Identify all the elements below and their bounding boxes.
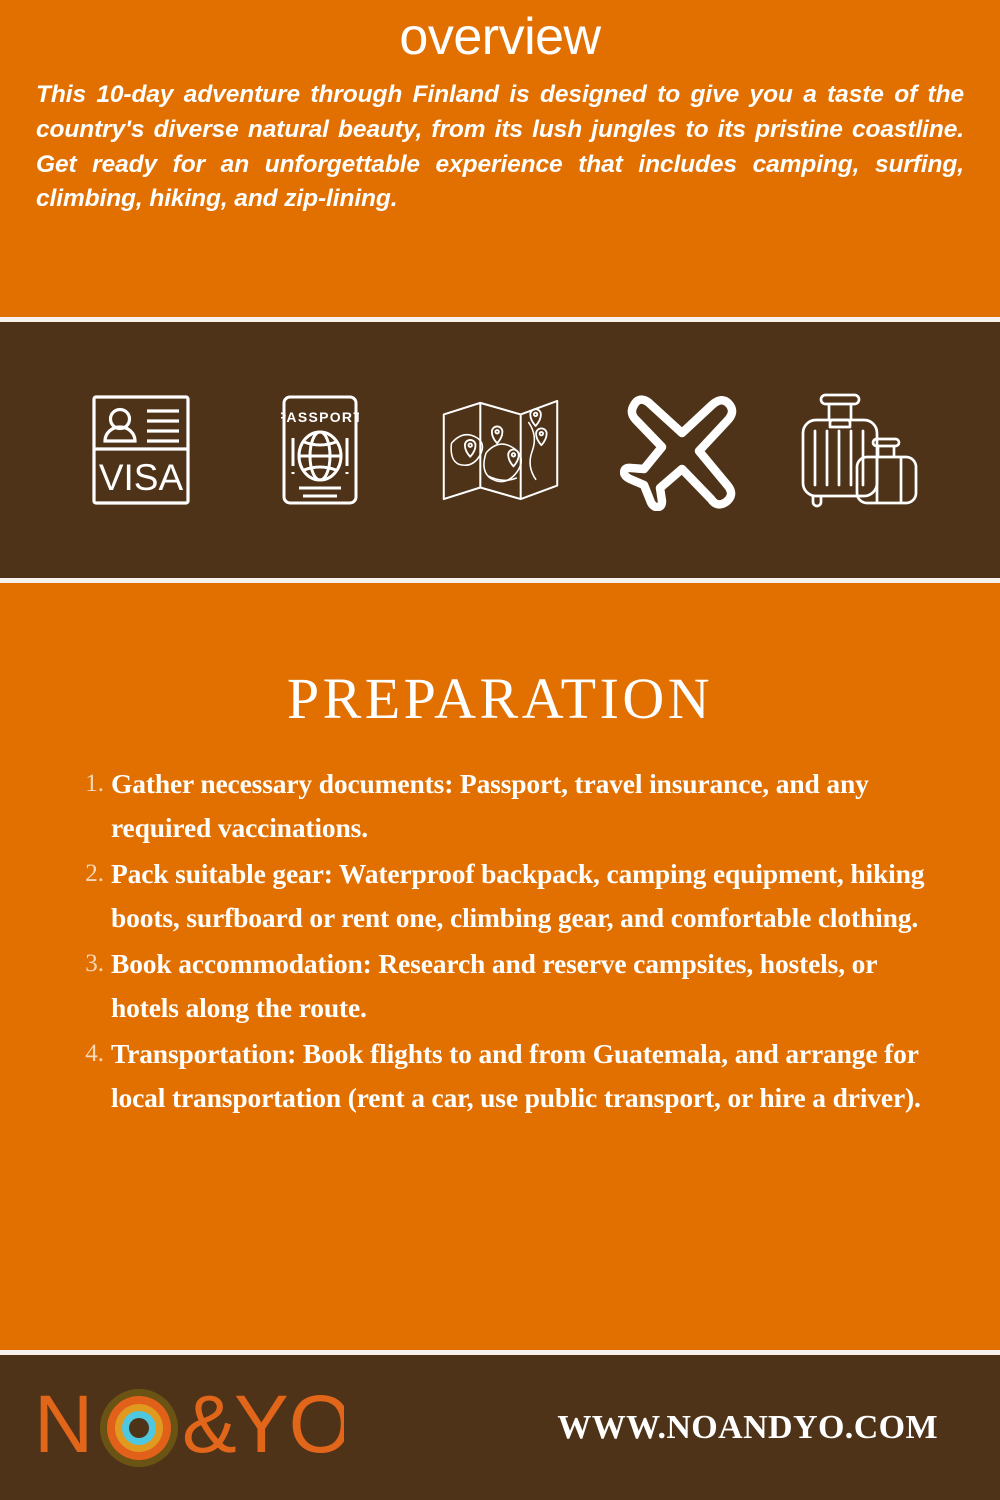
list-item-text: Transportation: Book flights to and from… bbox=[111, 1032, 940, 1120]
visa-label: VISA bbox=[98, 457, 183, 498]
logo-letter-n: N bbox=[34, 1386, 93, 1470]
overview-section: overview This 10-day adventure through F… bbox=[0, 0, 1000, 317]
footer-website-url[interactable]: WWW.NOANDYO.COM bbox=[557, 1409, 960, 1447]
list-item-text: Pack suitable gear: Waterproof backpack,… bbox=[111, 852, 940, 940]
page-footer: N & YO WWW.NOANDYO.COM bbox=[0, 1355, 1000, 1500]
list-item: 3. Book accommodation: Research and rese… bbox=[68, 942, 940, 1030]
preparation-list: 1. Gather necessary documents: Passport,… bbox=[40, 762, 960, 1120]
list-item-number: 3. bbox=[68, 942, 111, 986]
logo-letters-yo: YO bbox=[234, 1386, 344, 1470]
travel-icon-band: VISA PASSPORT bbox=[0, 322, 1000, 578]
list-item-number: 2. bbox=[68, 852, 111, 896]
brand-logo[interactable]: N & YO bbox=[34, 1386, 344, 1470]
passport-icon: PASSPORT bbox=[258, 385, 383, 515]
airplane-icon bbox=[617, 385, 742, 515]
overview-title: overview bbox=[36, 0, 964, 64]
list-item: 4. Transportation: Book flights to and f… bbox=[68, 1032, 940, 1120]
visa-card-icon: VISA bbox=[78, 385, 203, 515]
logo-ampersand: & bbox=[182, 1386, 237, 1470]
list-item-number: 4. bbox=[68, 1032, 111, 1076]
overview-body-text: This 10-day adventure through Finland is… bbox=[36, 78, 964, 217]
logo-ring-o bbox=[100, 1389, 178, 1467]
list-item-number: 1. bbox=[68, 762, 111, 806]
preparation-title: PREPARATION bbox=[40, 583, 960, 732]
luggage-icon bbox=[797, 385, 922, 515]
list-item-text: Gather necessary documents: Passport, tr… bbox=[111, 762, 940, 850]
folded-map-icon bbox=[438, 385, 563, 515]
passport-label: PASSPORT bbox=[281, 409, 359, 425]
list-item-text: Book accommodation: Research and reserve… bbox=[111, 942, 940, 1030]
list-item: 1. Gather necessary documents: Passport,… bbox=[68, 762, 940, 850]
infographic-page: overview This 10-day adventure through F… bbox=[0, 0, 1000, 1500]
list-item: 2. Pack suitable gear: Waterproof backpa… bbox=[68, 852, 940, 940]
preparation-section: PREPARATION 1. Gather necessary document… bbox=[0, 583, 1000, 1350]
